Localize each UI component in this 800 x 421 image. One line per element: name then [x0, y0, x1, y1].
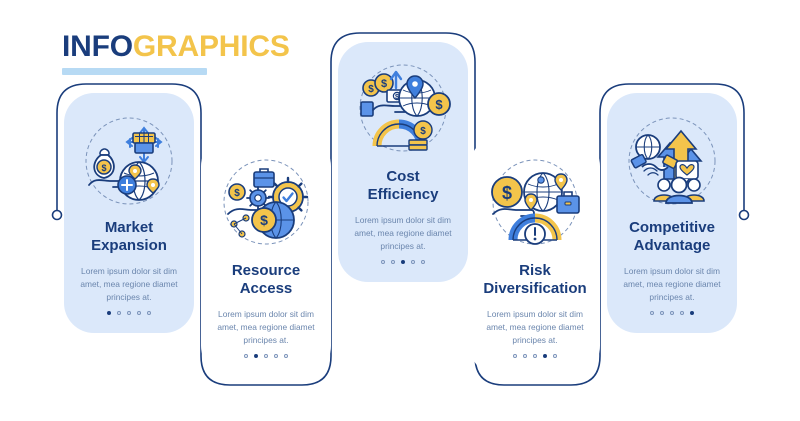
- title-block: INFOGRAPHICS: [62, 32, 290, 75]
- step-dot-5[interactable]: [690, 311, 694, 315]
- step-dots[interactable]: [381, 260, 425, 264]
- svg-text:$: $: [260, 212, 268, 228]
- card-description: Lorem ipsum dolor sit dim amet, mea regi…: [607, 265, 737, 304]
- page-title-graphics: GRAPHICS: [133, 30, 290, 63]
- svg-text:$: $: [420, 126, 426, 137]
- step-dots[interactable]: [513, 354, 557, 358]
- step-dot-3[interactable]: [670, 311, 674, 315]
- step-dot-1[interactable]: [650, 311, 654, 315]
- svg-text:$: $: [435, 97, 443, 112]
- step-dot-3[interactable]: [127, 311, 131, 315]
- card-market-expansion[interactable]: $ MarketExpansion Lorem ipsum dolor sit …: [64, 93, 194, 333]
- card-title: CostEfficiency: [360, 168, 447, 205]
- connector-start-dot: [53, 211, 62, 220]
- svg-text:$: $: [101, 163, 106, 173]
- card-description: Lorem ipsum dolor sit dim amet, mea regi…: [64, 265, 194, 304]
- page-title: INFOGRAPHICS: [62, 32, 290, 62]
- card-title: RiskDiversification: [475, 262, 594, 299]
- step-dot-3[interactable]: [264, 354, 268, 358]
- step-dot-4[interactable]: [411, 260, 415, 264]
- step-dot-5[interactable]: [147, 311, 151, 315]
- card-description: Lorem ipsum dolor sit dim amet, mea regi…: [470, 308, 600, 347]
- svg-text:$: $: [502, 183, 512, 203]
- step-dot-2[interactable]: [254, 354, 258, 358]
- page-title-info: INFO: [62, 30, 133, 63]
- card-title: MarketExpansion: [83, 219, 175, 256]
- card-title: ResourceAccess: [224, 262, 308, 299]
- step-dot-4[interactable]: [274, 354, 278, 358]
- hand-money-store-globe-icon: $: [77, 109, 181, 213]
- title-underline: [62, 68, 207, 75]
- step-dot-5[interactable]: [284, 354, 288, 358]
- step-dot-1[interactable]: [381, 260, 385, 264]
- step-dot-5[interactable]: [553, 354, 557, 358]
- svg-text:$: $: [368, 84, 374, 95]
- handshake-arrows-people-heart-icon: [620, 109, 724, 213]
- card-cost-efficiency[interactable]: $ $ $: [338, 42, 468, 282]
- step-dot-2[interactable]: [391, 260, 395, 264]
- step-dot-1[interactable]: [513, 354, 517, 358]
- coins-hand-globe-gauge-icon: $ $ $: [351, 58, 455, 162]
- card-description: Lorem ipsum dolor sit dim amet, mea regi…: [338, 214, 468, 253]
- step-dots[interactable]: [244, 354, 288, 358]
- step-dot-4[interactable]: [137, 311, 141, 315]
- step-dots[interactable]: [107, 311, 151, 315]
- step-dot-4[interactable]: [543, 354, 547, 358]
- card-risk-diversification[interactable]: $: [470, 136, 600, 376]
- step-dots[interactable]: [650, 311, 694, 315]
- card-resource-access[interactable]: $: [201, 136, 331, 376]
- step-dot-2[interactable]: [117, 311, 121, 315]
- step-dot-4[interactable]: [680, 311, 684, 315]
- gear-check-briefcase-globe-icon: $: [214, 152, 318, 256]
- infographic-canvas: INFOGRAPHICS: [0, 0, 800, 421]
- connector-end-dot: [740, 211, 749, 220]
- card-description: Lorem ipsum dolor sit dim amet, mea regi…: [201, 308, 331, 347]
- card-title: CompetitiveAdvantage: [621, 219, 723, 256]
- step-dot-3[interactable]: [401, 260, 405, 264]
- svg-text:$: $: [234, 188, 240, 199]
- step-dot-2[interactable]: [660, 311, 664, 315]
- svg-text:$: $: [381, 78, 387, 90]
- card-competitive-advantage[interactable]: CompetitiveAdvantage Lorem ipsum dolor s…: [607, 93, 737, 333]
- step-dot-2[interactable]: [523, 354, 527, 358]
- step-dot-3[interactable]: [533, 354, 537, 358]
- step-dot-1[interactable]: [244, 354, 248, 358]
- coin-globe-briefcase-gauge-icon: $: [483, 152, 587, 256]
- step-dot-5[interactable]: [421, 260, 425, 264]
- step-dot-1[interactable]: [107, 311, 111, 315]
